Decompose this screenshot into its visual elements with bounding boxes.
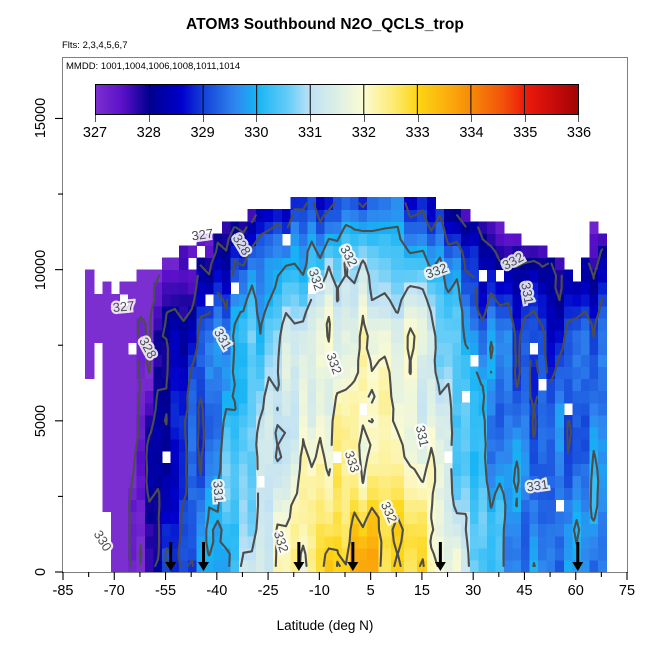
- colorbar-tick-330: 330: [244, 125, 268, 141]
- colorbar-tick-329: 329: [190, 125, 214, 141]
- x-tick-label-45: 45: [516, 583, 532, 599]
- colorbar-tick-328: 328: [137, 125, 161, 141]
- x-tick-label--85: -85: [53, 583, 74, 599]
- x-tick-label--55: -55: [155, 583, 176, 599]
- x-tick-label--40: -40: [206, 583, 227, 599]
- colorbar-tick-334: 334: [459, 125, 483, 141]
- colorbar-gradient: [95, 84, 579, 115]
- colorbar-tick-327: 327: [83, 125, 107, 141]
- colorbar-ticks: [95, 115, 579, 123]
- x-tick-label--25: -25: [258, 583, 279, 599]
- x-tick-label-5: 5: [367, 583, 375, 599]
- y-tick-label-15000: 15000: [33, 98, 49, 138]
- x-axis-label: Latitude (deg N): [0, 618, 650, 633]
- chart-title: ATOM3 Southbound N2O_QCLS_trop: [0, 16, 650, 34]
- y-tick-label-0: 0: [33, 568, 49, 576]
- colorbar: 327328329330331332333334335336: [95, 84, 579, 145]
- mmdd-annotation: MMDD: 1001,1004,1006,1008,1011,1014: [66, 61, 240, 72]
- colorbar-tick-331: 331: [298, 125, 322, 141]
- x-tick-label--70: -70: [104, 583, 125, 599]
- chart-canvas: ATOM3 Southbound N2O_QCLS_trop Flts: 2,3…: [0, 0, 650, 650]
- colorbar-tick-335: 335: [513, 125, 537, 141]
- colorbar-tick-336: 336: [567, 125, 591, 141]
- colorbar-tick-332: 332: [352, 125, 376, 141]
- y-tick-label-5000: 5000: [33, 405, 49, 437]
- x-tick-label-75: 75: [619, 583, 635, 599]
- colorbar-tick-333: 333: [406, 125, 430, 141]
- x-tick-label-30: 30: [465, 583, 481, 599]
- flights-annotation: Flts: 2,3,4,5,6,7: [62, 40, 127, 51]
- x-tick-label-15: 15: [414, 583, 430, 599]
- y-tick-label-10000: 10000: [33, 249, 49, 289]
- x-tick-label-60: 60: [568, 583, 584, 599]
- x-tick-label--10: -10: [309, 583, 330, 599]
- colorbar-tick-labels: 327328329330331332333334335336: [95, 123, 579, 145]
